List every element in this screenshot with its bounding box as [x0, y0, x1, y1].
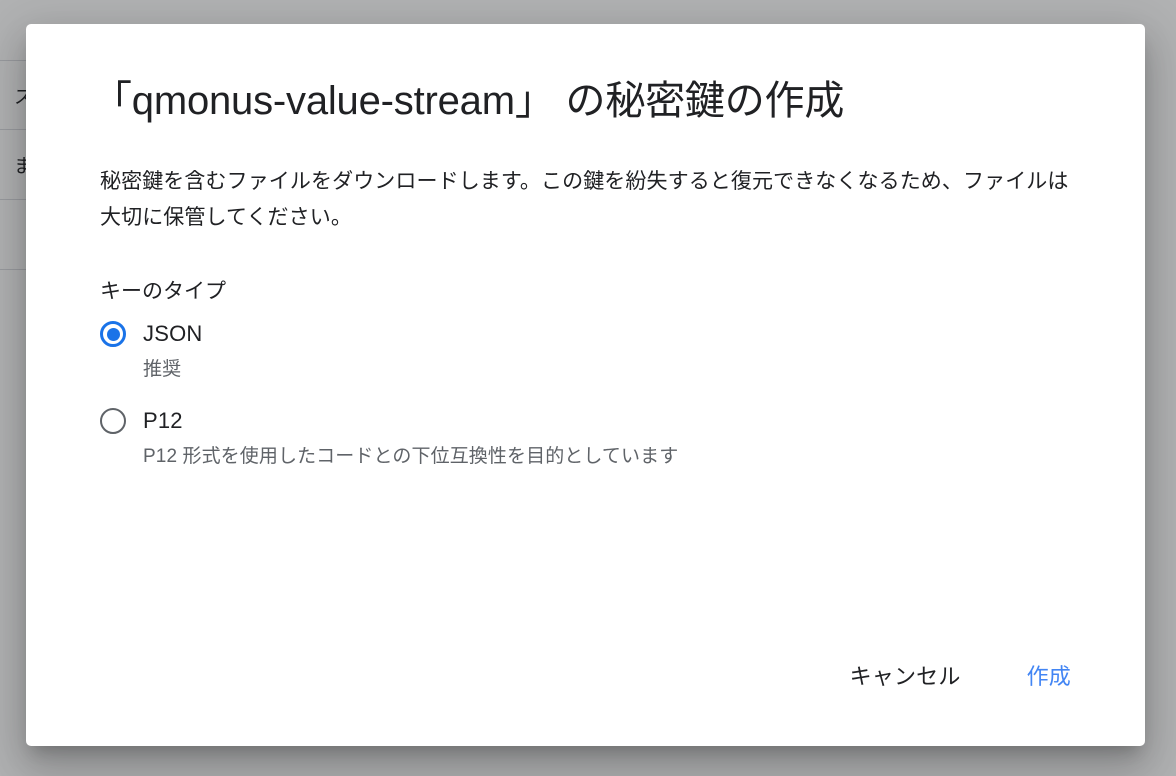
- dialog-body: 秘密鍵を含むファイルをダウンロードします。この鍵を紛失すると復元できなくなるため…: [26, 126, 1145, 654]
- radio-unchecked-icon[interactable]: [100, 408, 126, 434]
- create-button[interactable]: 作成: [1013, 654, 1085, 700]
- radio-row-json[interactable]: JSON: [100, 321, 1079, 347]
- dialog-actions: キャンセル 作成: [26, 654, 1145, 746]
- radio-help-p12: P12 形式を使用したコードとの下位互換性を目的としています: [143, 445, 1079, 469]
- radio-label-p12: P12: [143, 408, 183, 434]
- dialog-title: 「qmonus-value-stream」 の秘密鍵の作成: [26, 24, 1145, 126]
- radio-checked-icon[interactable]: [100, 321, 126, 347]
- key-type-label: キーのタイプ: [100, 279, 1079, 305]
- create-private-key-dialog: 「qmonus-value-stream」 の秘密鍵の作成 秘密鍵を含むファイル…: [26, 24, 1145, 746]
- key-type-radio-group: JSON 推奨 P12 P12 形式を使用したコードとの下位互換性を目的としてい…: [92, 321, 1079, 469]
- dialog-description: 秘密鍵を含むファイルをダウンロードします。この鍵を紛失すると復元できなくなるため…: [100, 164, 1079, 236]
- radio-label-json: JSON: [143, 321, 202, 347]
- cancel-button[interactable]: キャンセル: [836, 654, 975, 700]
- key-type-option-p12: P12 P12 形式を使用したコードとの下位互換性を目的としています: [92, 408, 1079, 469]
- radio-row-p12[interactable]: P12: [100, 408, 1079, 434]
- radio-dot-icon: [107, 328, 120, 341]
- radio-help-json: 推奨: [143, 358, 1079, 382]
- key-type-option-json: JSON 推奨: [92, 321, 1079, 382]
